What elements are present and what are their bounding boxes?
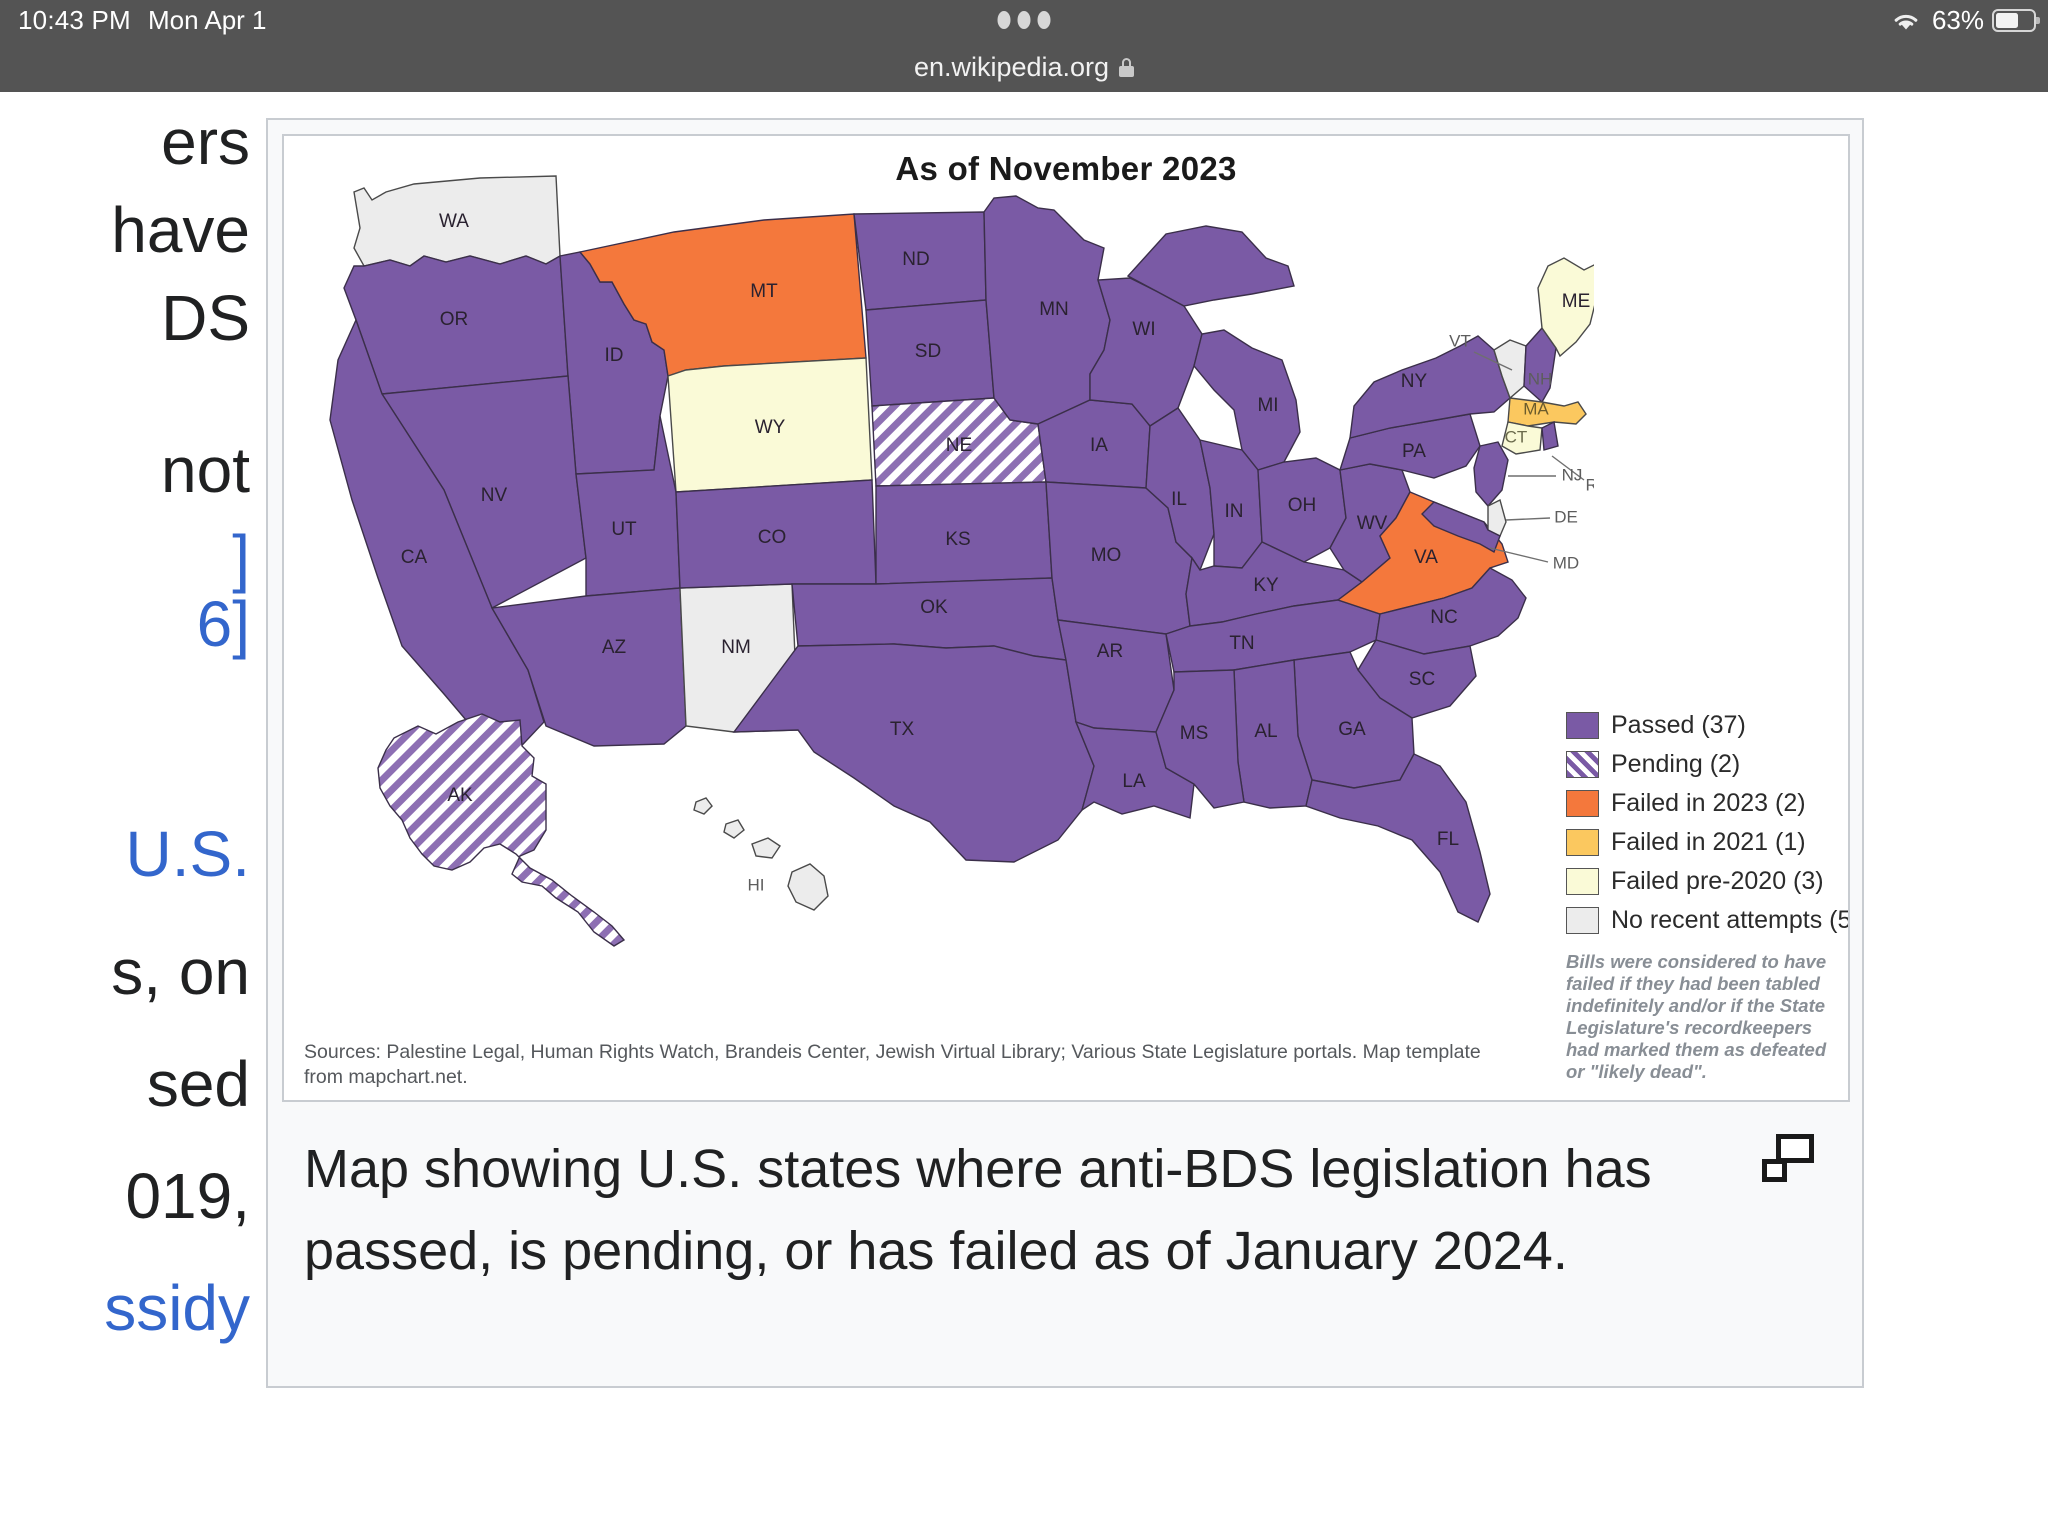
svg-text:RI: RI: [1586, 475, 1595, 494]
state-ND: [854, 212, 986, 310]
article-text-fragment: s, on: [111, 940, 250, 1004]
expand-icon[interactable]: [1762, 1134, 1814, 1182]
dot: [1038, 11, 1051, 29]
svg-text:MD: MD: [1553, 553, 1579, 572]
state-NJ: [1474, 442, 1508, 506]
article-text-fragment: sed: [147, 1052, 250, 1116]
legend-row: Pending (2): [1566, 745, 1850, 784]
legend-label: Failed in 2023 (2): [1611, 789, 1806, 818]
state-KS: [876, 482, 1052, 584]
legend-label: Passed (37): [1611, 711, 1746, 740]
article-text-column: ershaveDSnot]6]U.S.s, onsed019,ssidy: [0, 92, 262, 1536]
battery-icon: [1992, 9, 2036, 32]
legend-label: Pending (2): [1611, 750, 1740, 779]
legend-label: Failed in 2021 (1): [1611, 828, 1806, 857]
state-CO: [676, 480, 876, 588]
ios-status-bar: 10:43 PM Mon Apr 1 63%: [0, 0, 2048, 42]
legend-swatch: [1566, 712, 1599, 739]
legend-row: No recent attempts (5): [1566, 901, 1850, 940]
status-clock: 10:43 PM: [18, 5, 131, 36]
tab-overview-dots-icon[interactable]: [998, 11, 1051, 29]
svg-text:NJ: NJ: [1562, 465, 1583, 484]
article-text-fragment: ers: [161, 110, 250, 174]
dot: [998, 11, 1011, 29]
legend-swatch: [1566, 868, 1599, 895]
legend-swatch: [1566, 751, 1599, 778]
article-text-fragment: have: [111, 198, 250, 262]
state-WY: [668, 358, 872, 492]
svg-text:HI: HI: [748, 875, 765, 894]
legend-row: Failed pre-2020 (3): [1566, 862, 1850, 901]
state-OR: [344, 256, 568, 394]
dot: [1018, 11, 1031, 29]
state-CT: [1502, 422, 1542, 454]
image-caption: Map showing U.S. states where anti-BDS l…: [282, 1116, 1850, 1374]
state-MA: [1508, 398, 1586, 426]
map-sources: Sources: Palestine Legal, Human Rights W…: [304, 1040, 1504, 1090]
url-text: en.wikipedia.org: [914, 52, 1109, 83]
browser-chrome-bar: 10:43 PM Mon Apr 1 63% en.wikipedia.org: [0, 0, 2048, 92]
state-SD: [866, 300, 994, 406]
article-text-fragment: 019,: [125, 1164, 250, 1228]
caption-text: Map showing U.S. states where anti-BDS l…: [304, 1139, 1652, 1281]
legend-swatch: [1566, 790, 1599, 817]
state-HI: [694, 798, 828, 910]
legend-note: Bills were considered to have failed if …: [1566, 951, 1838, 1083]
us-choropleth-map: WA OR ID MT ND SD MN WY NE IA WI MI NY P…: [294, 170, 1594, 1030]
legend-label: No recent attempts (5): [1611, 906, 1850, 935]
state-AK: [378, 714, 624, 946]
wifi-icon: [1890, 8, 1922, 32]
lock-icon: [1119, 58, 1134, 77]
state-WA: [354, 176, 560, 266]
image-thumbnail-box[interactable]: As of November 2023: [266, 118, 1864, 1388]
battery-percentage: 63%: [1932, 5, 1984, 36]
article-text-fragment[interactable]: ssidy: [104, 1276, 250, 1340]
page-content: ershaveDSnot]6]U.S.s, onsed019,ssidy As …: [0, 92, 2048, 1536]
article-text-fragment: not: [161, 438, 250, 502]
legend-row: Passed (37): [1566, 706, 1850, 745]
status-weekday: Mon Apr 1: [148, 5, 267, 36]
legend-row: Failed in 2023 (2): [1566, 784, 1850, 823]
map-image[interactable]: As of November 2023: [282, 134, 1850, 1102]
article-text-fragment[interactable]: U.S.: [126, 822, 250, 886]
article-text-fragment: DS: [161, 286, 250, 350]
map-legend: Passed (37)Pending (2)Failed in 2023 (2)…: [1566, 706, 1850, 1083]
legend-row: Failed in 2021 (1): [1566, 823, 1850, 862]
legend-swatch: [1566, 907, 1599, 934]
state-RI: [1542, 422, 1558, 450]
legend-swatch: [1566, 829, 1599, 856]
article-text-fragment[interactable]: ]: [232, 526, 250, 590]
legend-label: Failed pre-2020 (3): [1611, 867, 1824, 896]
article-text-fragment[interactable]: 6]: [197, 592, 250, 656]
state-AR: [1058, 620, 1174, 732]
address-bar[interactable]: en.wikipedia.org: [0, 42, 2048, 92]
state-TX: [734, 644, 1094, 862]
svg-text:DE: DE: [1554, 507, 1578, 526]
